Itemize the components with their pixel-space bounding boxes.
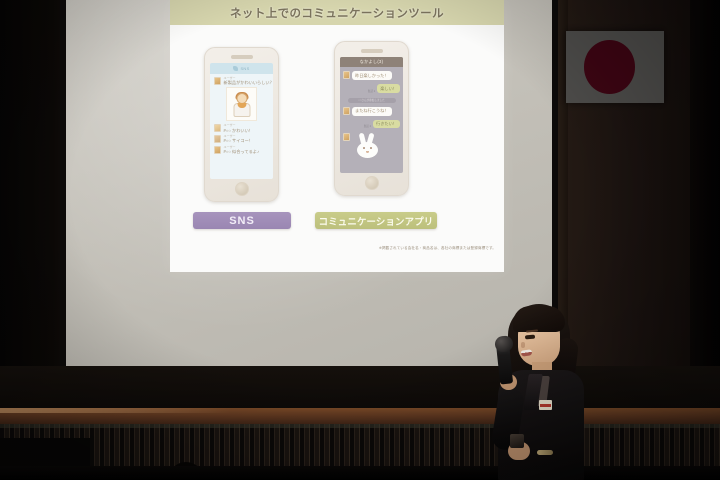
sns-post-photo bbox=[226, 87, 257, 121]
stage-wall bbox=[0, 366, 720, 414]
rabbit-head bbox=[357, 142, 378, 158]
chat-bubble-text: またね行こうね！ bbox=[352, 107, 392, 116]
list-item: ユーザー #○○ サイコー！ bbox=[214, 135, 269, 143]
phone-chat-viewport: なかよし(3) 昨日楽しかった！ 既読 2 楽しい！ bbox=[340, 57, 403, 173]
handrail-highlight bbox=[0, 408, 230, 413]
label-badge-sns-text: SNS bbox=[229, 215, 255, 227]
sns-comment-text: #○○ サイコー！ bbox=[224, 138, 254, 143]
presenter bbox=[480, 300, 600, 480]
chat-message-sticker bbox=[343, 133, 400, 159]
avatar bbox=[343, 107, 350, 115]
sns-app-screen: SNS ユーザー 新製品がかわいいらしい？ bbox=[210, 63, 273, 179]
avatar bbox=[343, 133, 350, 141]
avatar bbox=[214, 124, 221, 132]
rabbit-eye-left bbox=[363, 147, 365, 149]
chat-message-outgoing: 既読 2 行きたい！ bbox=[343, 120, 400, 129]
chat-room-title: なかよし(3) bbox=[360, 59, 384, 65]
label-badge-app-text: コミュニケーションアプリ bbox=[319, 214, 434, 228]
presenter-nose bbox=[521, 342, 525, 348]
sns-comment-text: #○○ かわいい！ bbox=[224, 128, 254, 133]
wristwatch bbox=[537, 450, 553, 455]
phone-mockup-sns: SNS ユーザー 新製品がかわいいらしい？ bbox=[204, 47, 279, 202]
hinomaru-disc bbox=[584, 40, 635, 93]
avatar bbox=[343, 71, 350, 79]
slide-title: ネット上でのコミュニケーションツール bbox=[230, 5, 444, 21]
chat-read-stamp: 既読 2 bbox=[364, 124, 371, 128]
list-item: ユーザー #○○ かわいい！ bbox=[214, 124, 269, 132]
name-badge bbox=[539, 400, 552, 410]
presentation-slide: ネット上でのコミュニケーションツール SNS bbox=[170, 0, 504, 272]
chat-app-bar: なかよし(3) bbox=[340, 57, 403, 67]
foreground-shadow bbox=[0, 466, 720, 480]
avatar bbox=[214, 135, 221, 143]
sns-post: ユーザー 新製品がかわいいらしい？ bbox=[210, 74, 273, 121]
japanese-flag bbox=[566, 31, 664, 103]
chat-message-list: 昨日楽しかった！ 既読 2 楽しい！ ○○さんが参加しました bbox=[340, 67, 403, 167]
avatar bbox=[214, 77, 221, 85]
phone-home-button-icon bbox=[365, 176, 379, 190]
label-badge-app: コミュニケーションアプリ bbox=[315, 212, 437, 229]
paneling-top-edge bbox=[0, 424, 720, 428]
chat-message-incoming: またね行こうね！ bbox=[343, 107, 400, 116]
sns-app-bar: SNS bbox=[210, 63, 273, 74]
rabbit-sticker-icon bbox=[354, 133, 381, 159]
sns-comment-list: ユーザー #○○ かわいい！ ユーザー #○○ サイコー！ bbox=[210, 124, 273, 154]
chat-bubble-text: 行きたい！ bbox=[373, 120, 400, 129]
avatar bbox=[214, 146, 221, 154]
chat-system-divider: ○○さんが参加しました bbox=[348, 98, 396, 103]
phone-sns-viewport: SNS ユーザー 新製品がかわいいらしい？ bbox=[210, 63, 273, 179]
sns-post-header: ユーザー 新製品がかわいいらしい？ bbox=[214, 77, 269, 85]
chat-app-screen: なかよし(3) 昨日楽しかった！ 既読 2 楽しい！ bbox=[340, 57, 403, 173]
presenter-bangs bbox=[513, 306, 565, 332]
chat-message-incoming: 昨日楽しかった！ bbox=[343, 71, 400, 80]
phone-speaker-icon bbox=[231, 55, 253, 59]
chat-message-outgoing: 既読 2 楽しい！ bbox=[343, 84, 400, 93]
chat-bubble-text: 楽しい！ bbox=[377, 84, 400, 93]
chat-bubble-text: 昨日楽しかった！ bbox=[352, 71, 392, 80]
chat-read-stamp: 既読 2 bbox=[368, 89, 375, 93]
phone-speaker-icon bbox=[361, 49, 383, 53]
slide-body: SNS ユーザー 新製品がかわいいらしい？ bbox=[170, 25, 504, 272]
slide-footnote: ※掲載されている会社名・商品名は、各社の商標または登録商標です。 bbox=[326, 246, 496, 251]
handheld-remote-device bbox=[510, 434, 524, 448]
photo-scene: ネット上でのコミュニケーションツール SNS bbox=[0, 0, 720, 480]
sns-logo-icon bbox=[233, 66, 238, 71]
chat-system-text: ○○さんが参加しました bbox=[358, 98, 384, 102]
label-badge-sns: SNS bbox=[193, 212, 291, 229]
list-item: ユーザー #○○ 似合ってるよ♪ bbox=[214, 146, 269, 154]
phone-home-button-icon bbox=[235, 182, 249, 196]
sns-comment-text: #○○ 似合ってるよ♪ bbox=[224, 149, 260, 154]
phone-mockup-chat: なかよし(3) 昨日楽しかった！ 既読 2 楽しい！ bbox=[334, 41, 409, 196]
rabbit-eye-right bbox=[370, 147, 372, 149]
sns-post-text: 新製品がかわいいらしい？ bbox=[224, 80, 274, 85]
slide-header-band: ネット上でのコミュニケーションツール bbox=[170, 0, 504, 25]
sns-app-title: SNS bbox=[240, 66, 249, 71]
